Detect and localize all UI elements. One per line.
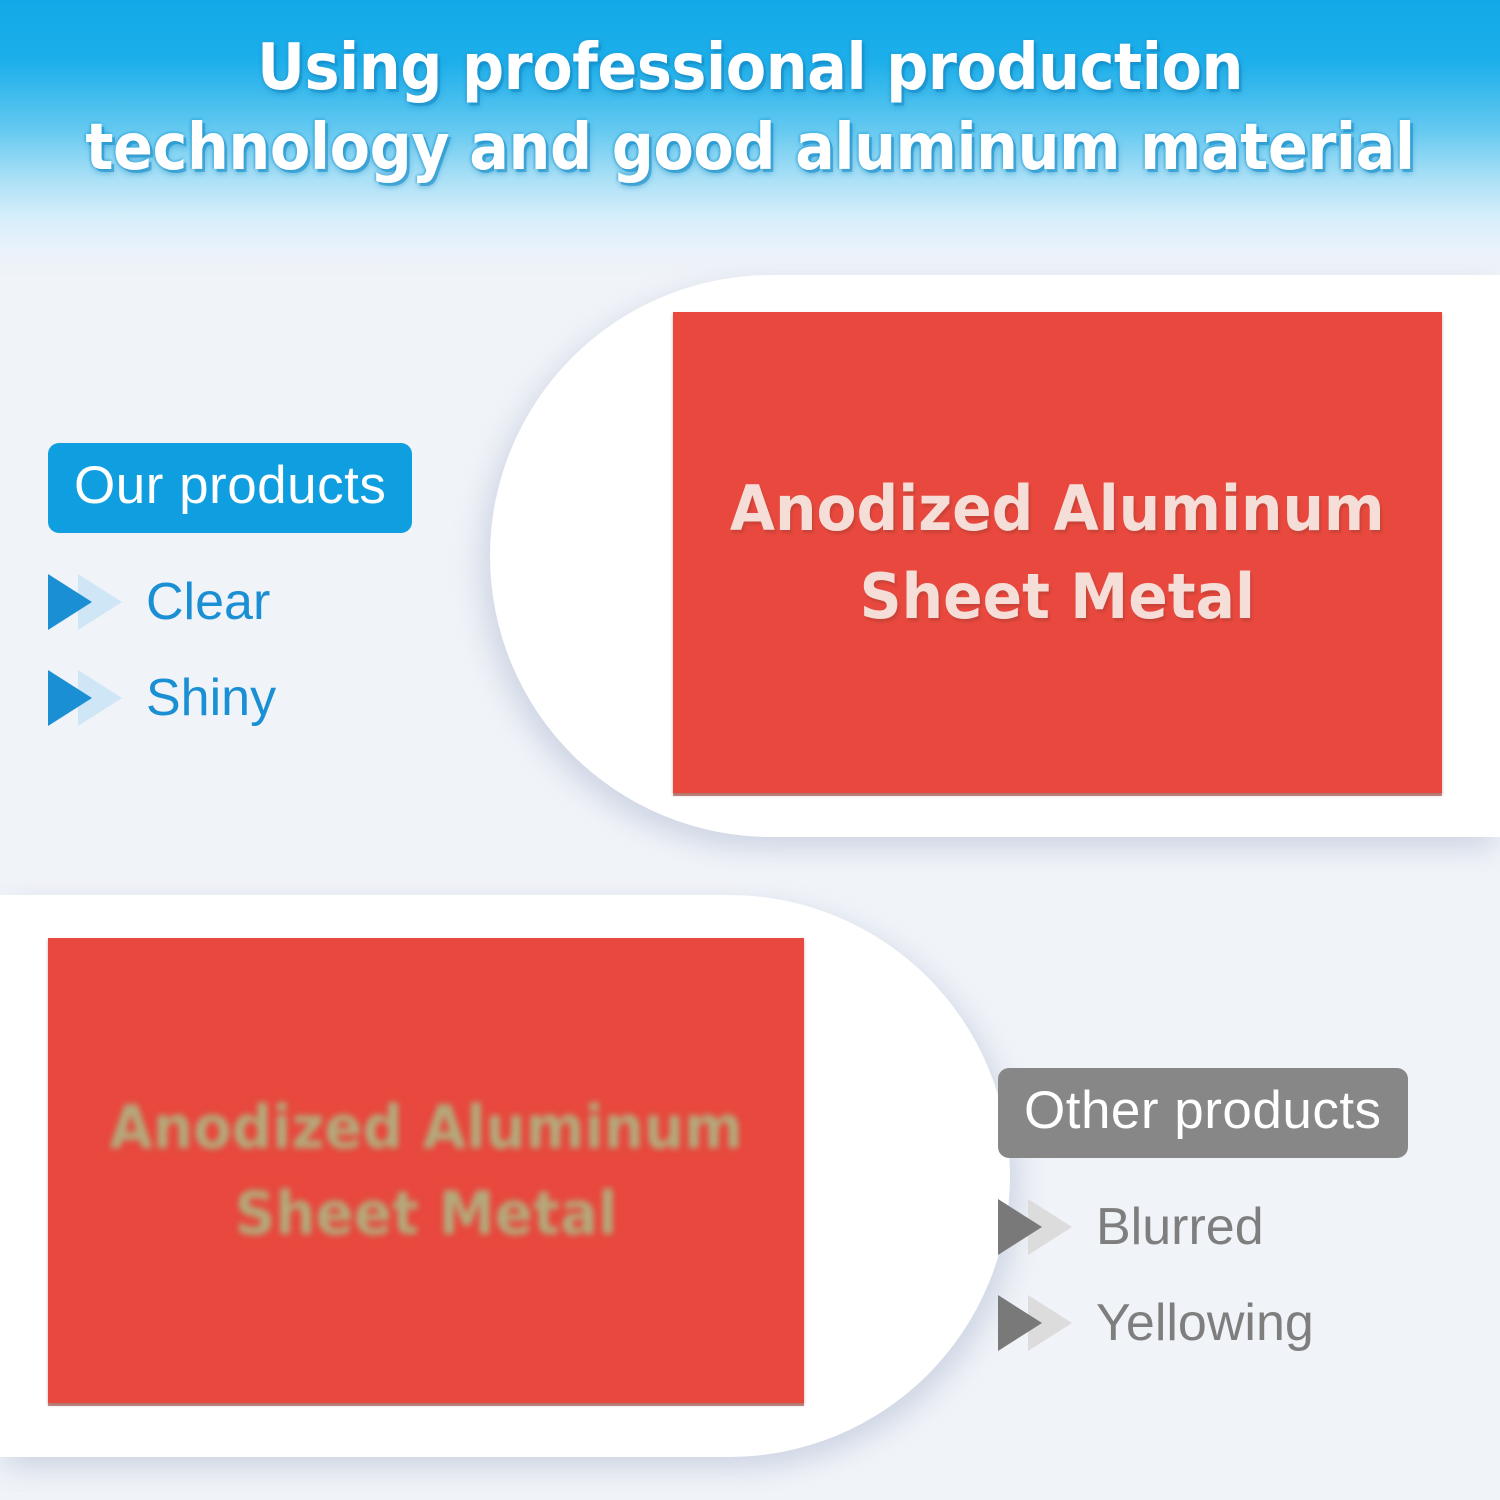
list-item: Shiny: [48, 659, 412, 737]
arrow-right-icon: [998, 1199, 1080, 1255]
our-product-image-caption: Anodized Aluminum Sheet Metal: [717, 465, 1398, 641]
our-products-feature-list: Clear Shiny: [48, 563, 412, 737]
arrow-right-icon: [48, 670, 130, 726]
other-products-block: Other products Blurred Yellowing: [998, 1068, 1408, 1362]
other-product-image: Anodized Aluminum Sheet Metal: [48, 938, 804, 1403]
list-item: Yellowing: [998, 1284, 1408, 1362]
arrow-right-icon: [998, 1295, 1080, 1351]
our-products-block: Our products Clear Shiny: [48, 443, 412, 737]
list-item: Blurred: [998, 1188, 1408, 1266]
page-title: Using professional production technology…: [60, 28, 1440, 188]
other-products-feature-list: Blurred Yellowing: [998, 1188, 1408, 1362]
feature-label: Shiny: [146, 670, 276, 726]
list-item: Clear: [48, 563, 412, 641]
other-products-badge: Other products: [998, 1068, 1408, 1158]
header-banner: Using professional production technology…: [0, 0, 1500, 278]
feature-label: Yellowing: [1096, 1295, 1314, 1351]
feature-label: Blurred: [1096, 1199, 1264, 1255]
other-product-image-caption: Anodized Aluminum Sheet Metal: [96, 1085, 756, 1257]
our-product-image: Anodized Aluminum Sheet Metal: [673, 312, 1442, 793]
arrow-right-icon: [48, 574, 130, 630]
feature-label: Clear: [146, 574, 270, 630]
our-products-badge: Our products: [48, 443, 412, 533]
